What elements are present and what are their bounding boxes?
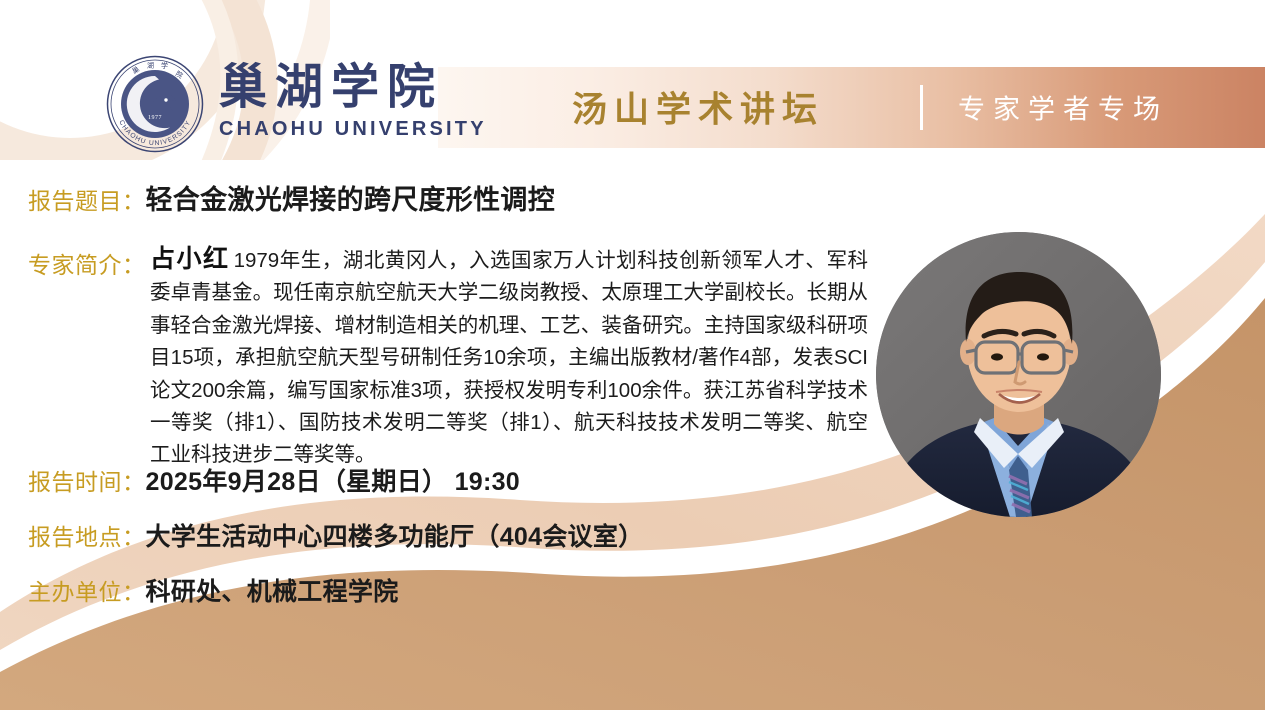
svg-text:学: 学	[161, 61, 168, 70]
portrait-illustration	[876, 232, 1161, 517]
lecture-time-value: 2025年9月28日（星期日） 19:30	[146, 462, 521, 498]
chaohu-university-seal-icon: 1977 巢 湖 学 院 CHAOHU UNIVERSITY	[105, 54, 205, 154]
lecture-place-row: 报告地点： 大学生活动中心四楼多功能厅（404会议室）	[28, 517, 644, 553]
svg-text:湖: 湖	[147, 61, 154, 70]
lecture-host-row: 主办单位： 科研处、机械工程学院	[28, 572, 399, 608]
speaker-portrait	[876, 232, 1161, 517]
speaker-bio-row: 专家简介： 占小红1979年生，湖北黄冈人，入选国家万人计划科技创新领军人才、军…	[28, 243, 868, 472]
lecture-host-label: 主办单位：	[28, 573, 146, 607]
lecture-time-row: 报告时间： 2025年9月28日（星期日） 19:30	[28, 462, 520, 498]
lecture-title-value: 轻合金激光焊接的跨尺度形性调控	[146, 178, 556, 217]
speaker-bio-body: 1979年生，湖北黄冈人，入选国家万人计划科技创新领军人才、军科委卓青基金。现任…	[150, 249, 868, 466]
university-name-en: CHAOHU UNIVERSITY	[219, 118, 487, 141]
lecture-title-row: 报告题目： 轻合金激光焊接的跨尺度形性调控	[28, 178, 555, 217]
university-name-cn: 巢湖学院	[219, 64, 487, 112]
speaker-name: 占小红	[150, 245, 230, 273]
university-wordmark: 巢湖学院 CHAOHU UNIVERSITY	[219, 64, 487, 145]
lecture-poster: 汤山学术讲坛 专家学者专场 1977 巢	[0, 0, 1265, 710]
speaker-bio-label: 专家简介：	[28, 246, 146, 280]
banner-main-title: 汤山学术讲坛	[572, 81, 824, 132]
banner-divider	[920, 85, 923, 130]
lecture-time-label: 报告时间：	[28, 463, 146, 497]
university-logo: 1977 巢 湖 学 院 CHAOHU UNIVERSITY	[105, 52, 487, 156]
svg-text:1977: 1977	[148, 115, 162, 121]
lecture-place-label: 报告地点：	[28, 518, 146, 552]
lecture-host-value: 科研处、机械工程学院	[146, 572, 399, 608]
lecture-title-label: 报告题目：	[28, 182, 146, 216]
banner-sub-title: 专家学者专场	[958, 87, 1168, 126]
header-banner: 汤山学术讲坛 专家学者专场	[438, 67, 1265, 148]
speaker-bio-text: 占小红1979年生，湖北黄冈人，入选国家万人计划科技创新领军人才、军科委卓青基金…	[150, 243, 868, 472]
lecture-place-value: 大学生活动中心四楼多功能厅（404会议室）	[146, 517, 644, 553]
poster-header: 汤山学术讲坛 专家学者专场 1977 巢	[0, 0, 1265, 160]
